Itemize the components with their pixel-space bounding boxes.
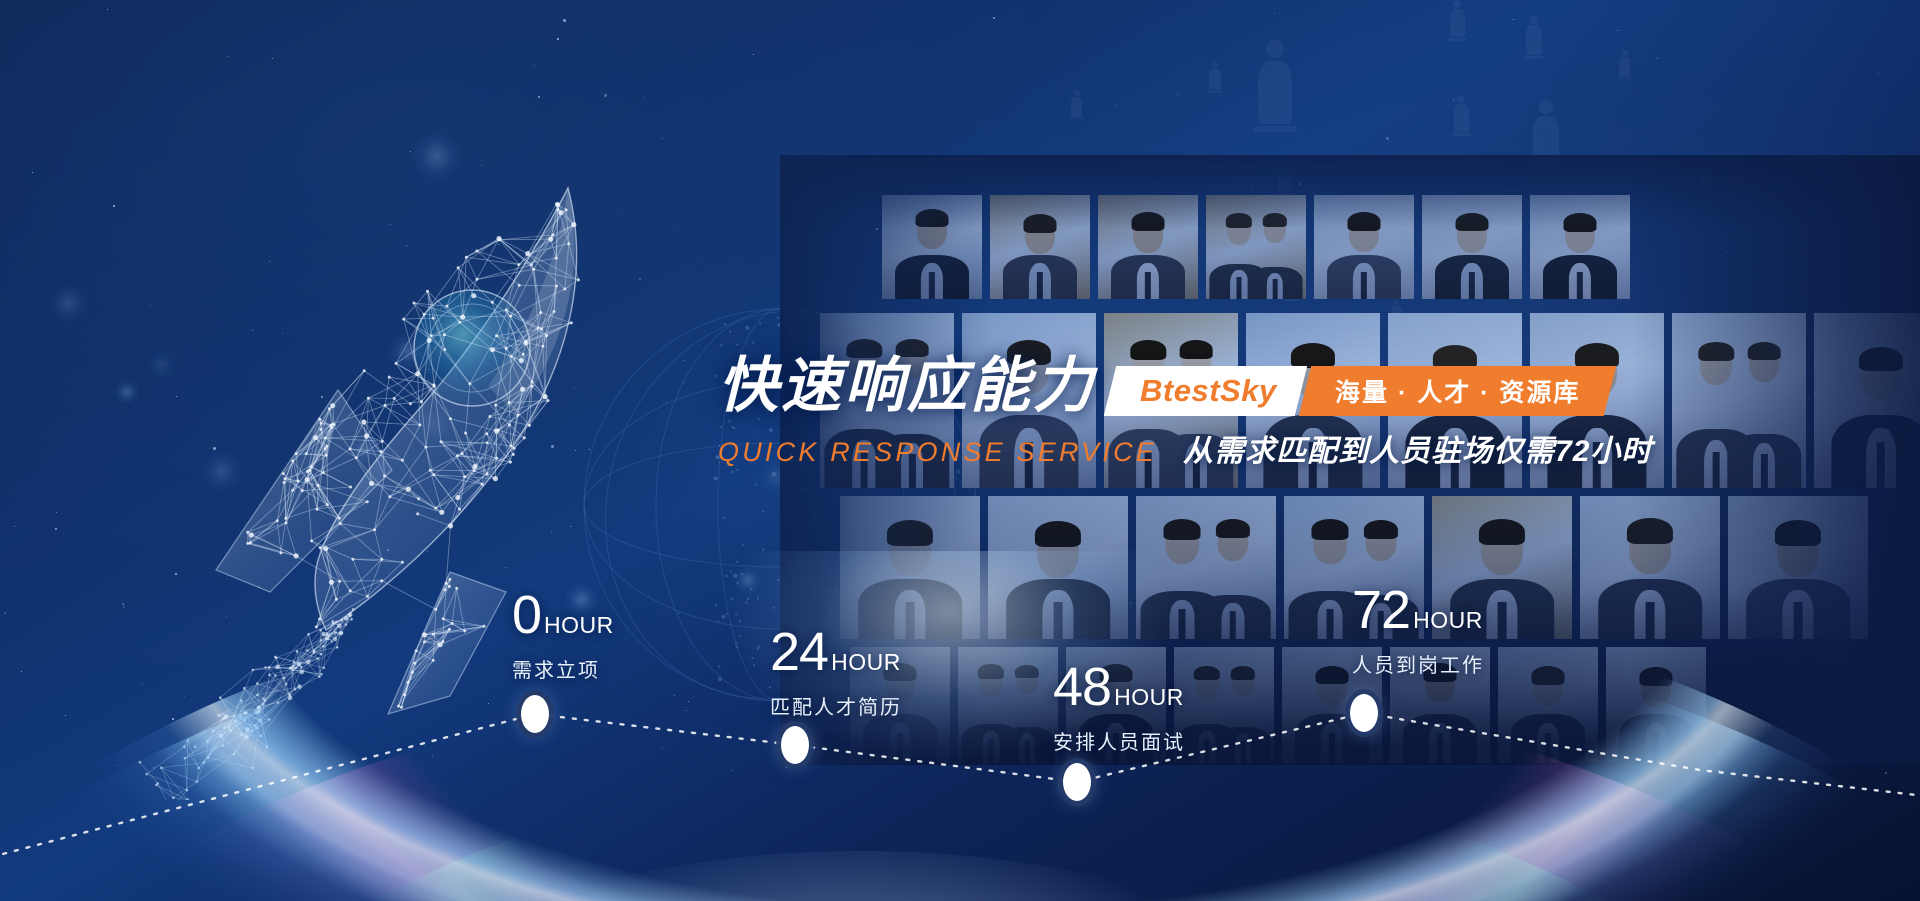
photo-blue-tint [1390, 647, 1490, 763]
mosaic-photo [1314, 195, 1414, 299]
mosaic-photo [1422, 195, 1522, 299]
mosaic-photo [1606, 647, 1706, 763]
photo-blue-tint [840, 496, 980, 639]
mosaic-photo [1136, 496, 1276, 639]
photo-blue-tint [958, 647, 1058, 763]
photo-blue-tint [1606, 647, 1706, 763]
milestone-2-node [1063, 763, 1091, 801]
photo-blue-tint [1314, 195, 1414, 299]
photo-blue-tint [990, 195, 1090, 299]
person-silhouette-icon [1530, 100, 1562, 191]
mosaic-photo [1432, 496, 1572, 639]
headline-block: 快速响应能力 BtestSky 海量 · 人才 · 资源库 QUICK RESP… [718, 356, 1652, 470]
mosaic-photo [990, 195, 1090, 299]
mosaic-photo [850, 647, 950, 763]
person-silhouette-icon [1700, 160, 1712, 194]
headline-sub-row: QUICK RESPONSE SERVICE 从需求匹配到人员驻场仅需72小时 [718, 426, 1652, 470]
mosaic-photo [1498, 647, 1598, 763]
mosaic-photo [1390, 647, 1490, 763]
photo-blue-tint [1282, 647, 1382, 763]
person-silhouette-icon [1618, 50, 1632, 88]
person-silhouette-icon [1208, 62, 1222, 102]
photo-blue-tint [988, 496, 1128, 639]
mosaic-photo [1814, 313, 1920, 488]
headline-subtitle: 从需求匹配到人员驻场仅需72小时 [1183, 426, 1652, 470]
headline-main-row: 快速响应能力 BtestSky 海量 · 人才 · 资源库 [718, 356, 1652, 416]
mosaic-row [840, 496, 1868, 639]
wireframe-rocket-icon [120, 140, 740, 800]
mosaic-photo [1206, 195, 1306, 299]
mosaic-photo [840, 496, 980, 639]
person-silhouette-icon [1452, 95, 1471, 148]
photo-blue-tint [1422, 195, 1522, 299]
photo-blue-tint [1530, 195, 1630, 299]
photo-blue-tint [1432, 496, 1572, 639]
mosaic-photo [1728, 496, 1868, 639]
feature-tag: 海量 · 人才 · 资源库 [1298, 366, 1616, 416]
headline-english: QUICK RESPONSE SERVICE [718, 437, 1157, 468]
photo-blue-tint [850, 647, 950, 763]
mosaic-photo [1066, 647, 1166, 763]
person-silhouette-icon [1448, 0, 1467, 53]
photo-blue-tint [1066, 647, 1166, 763]
person-silhouette-icon [1254, 40, 1297, 160]
photo-blue-tint [882, 195, 982, 299]
photo-blue-tint [1728, 496, 1868, 639]
photo-blue-tint [1174, 647, 1274, 763]
mosaic-photo [1174, 647, 1274, 763]
mosaic-photo [958, 647, 1058, 763]
photo-blue-tint [1098, 195, 1198, 299]
photo-blue-tint [1498, 647, 1598, 763]
mosaic-photo [988, 496, 1128, 639]
photo-blue-tint [1206, 195, 1306, 299]
photo-blue-tint [1136, 496, 1276, 639]
mosaic-photo [1530, 195, 1630, 299]
milestone-1-node [781, 726, 809, 764]
mosaic-photo [1672, 313, 1806, 488]
photo-blue-tint [1284, 496, 1424, 639]
mosaic-photo [1282, 647, 1382, 763]
hero-banner: 快速响应能力 BtestSky 海量 · 人才 · 资源库 QUICK RESP… [0, 0, 1920, 901]
mosaic-photo [1580, 496, 1720, 639]
brand-tag-label: BtestSky [1140, 373, 1277, 409]
mosaic-row [850, 647, 1706, 763]
feature-tag-label: 海量 · 人才 · 资源库 [1335, 373, 1580, 409]
photo-blue-tint [1814, 313, 1920, 488]
mosaic-row [882, 195, 1630, 299]
mosaic-photo [1284, 496, 1424, 639]
photo-blue-tint [1580, 496, 1720, 639]
photo-blue-tint [1672, 313, 1806, 488]
person-silhouette-icon [1070, 90, 1084, 128]
brand-tag: BtestSky [1104, 366, 1307, 416]
mosaic-photo [882, 195, 982, 299]
mosaic-photo [1098, 195, 1198, 299]
page-title: 快速响应能力 [718, 356, 1096, 416]
person-silhouette-icon [1524, 15, 1544, 73]
brand-tag-group: BtestSky 海量 · 人才 · 资源库 [1110, 366, 1610, 416]
